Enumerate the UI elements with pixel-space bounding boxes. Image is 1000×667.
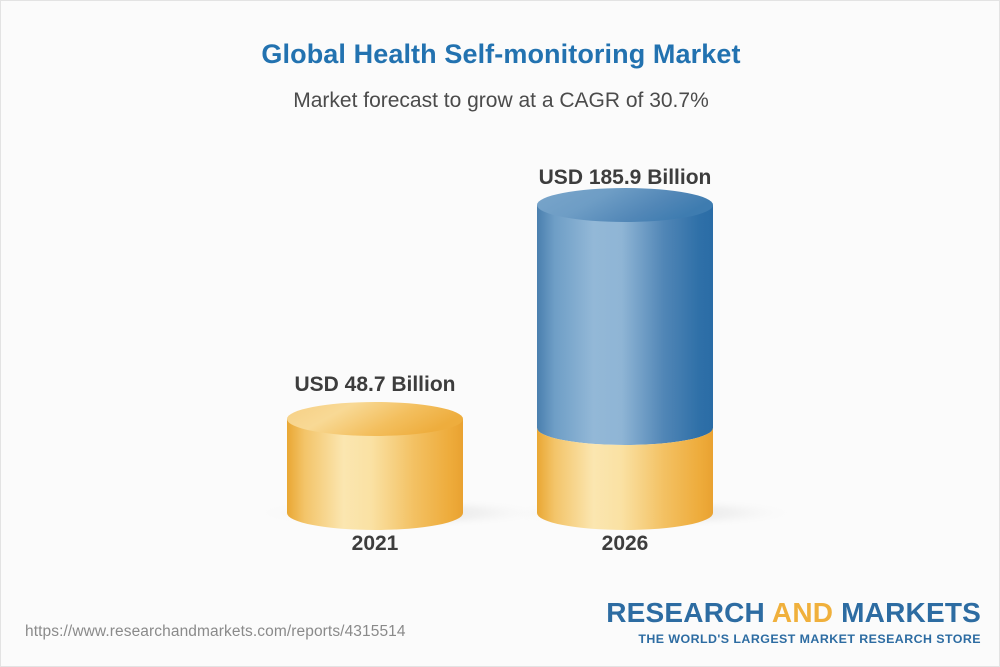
bar-2026-top-cap: [537, 188, 713, 222]
brand-word-research: RESEARCH: [606, 597, 772, 628]
brand-tagline: THE WORLD'S LARGEST MARKET RESEARCH STOR…: [606, 633, 981, 645]
source-url[interactable]: https://www.researchandmarkets.com/repor…: [25, 623, 406, 641]
brand-logo[interactable]: RESEARCH AND MARKETS THE WORLD'S LARGEST…: [606, 599, 981, 645]
brand-word-markets: MARKETS: [841, 597, 981, 628]
brand-wordmark: RESEARCH AND MARKETS: [606, 599, 981, 627]
category-label-2026: 2026: [525, 532, 725, 556]
bar-2021-top-cap: [287, 402, 463, 436]
infographic-canvas: Global Health Self-monitoring Market Mar…: [0, 0, 1000, 667]
bar-2026-body-blue: [537, 205, 713, 445]
cylinder-bar-chart-svg: [1, 1, 1000, 601]
bar-value-label-2026: USD 185.9 Billion: [525, 166, 725, 190]
category-label-2021: 2021: [275, 532, 475, 556]
chart-plot-area: USD 48.7 Billion USD 185.9 Billion 2021 …: [1, 1, 1000, 601]
brand-word-and: AND: [772, 597, 841, 628]
bar-value-label-2021: USD 48.7 Billion: [275, 373, 475, 397]
bar-2026[interactable]: [501, 188, 801, 530]
